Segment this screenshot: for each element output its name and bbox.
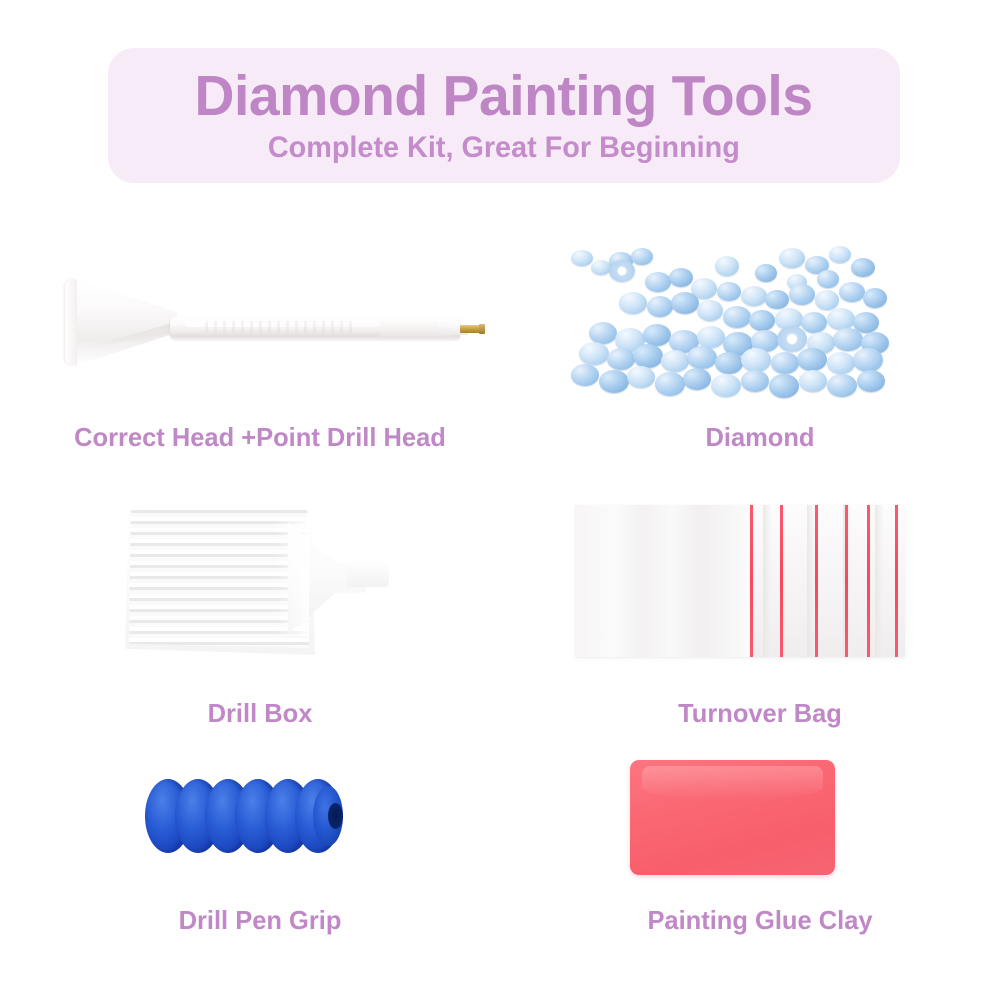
diamond-bead [687,346,717,369]
diamond-bead [741,286,767,306]
diamond-bead [769,374,799,398]
diamond-bead [631,248,653,265]
diamond-bead [817,270,839,288]
diamond-bead [853,348,883,372]
diamond-bead [683,368,711,390]
painting-glue-clay-image [630,760,835,875]
bag-sheet-stack [575,505,750,657]
diamond-bead [607,348,635,370]
pen-shaft-texture [205,321,355,333]
pen-tip-end [479,324,485,334]
diamond-bead [571,250,593,266]
diamond-bead [833,328,863,351]
tray-spout [347,561,389,587]
diamond-bead [697,300,723,321]
diamond-bead [671,292,699,314]
page-subtitle: Complete Kit, Great For Beginning [268,132,740,164]
diamond-bead [711,374,741,397]
diamond-bead [741,370,769,392]
bag-seal-stripe [780,505,783,657]
diamond-bead [779,248,805,268]
product-cell-correct-head-point-drill-head: Correct Head +Point Drill Head [0,230,520,460]
diamond-bead [863,288,887,308]
diamond-bead [599,370,629,393]
diamond-bead [851,258,875,277]
drill-pen-grip-image [145,773,360,863]
diamond-bead [765,290,789,309]
diamond-bead-top-view [777,326,807,352]
diamond-bead [643,324,671,346]
diamond-bead [857,370,885,392]
bag-seal-stripe [867,505,870,657]
diamond-bead [619,292,647,314]
bag-seal-stripe [895,505,898,657]
turnover-bag-image [575,505,905,657]
bag-fold [875,505,884,657]
diamond-bead [829,246,851,263]
diamond-bead [789,284,815,305]
pen-correct-head-cone [77,280,177,365]
bag-fold [763,505,772,657]
drill-pen-image [55,275,485,385]
diamond-bead [661,350,689,372]
drill-box-image [125,488,405,668]
diamond-bead [669,268,693,287]
diamond-bead [627,366,655,388]
diamond-bead-top-view [609,260,635,282]
diamond-bead [771,352,799,374]
diamond-bead [827,352,855,374]
diamond-bead [827,374,857,397]
caption-drill-pen-grip: Drill Pen Grip [5,905,515,936]
diamond-bead [799,370,827,392]
diamond-bead [801,312,827,333]
product-cell-painting-glue-clay: Painting Glue Clay [520,745,1000,960]
grip-bore-hole [328,803,343,829]
diamond-bead [697,326,725,348]
diamond-bead [645,272,671,292]
page-title: Diamond Painting Tools [195,67,813,125]
product-cell-drill-box: Drill Box [0,470,520,735]
diamond-bead [741,348,771,372]
diamond-bead [723,306,751,328]
caption-correct-head-point-drill-head: Correct Head +Point Drill Head [5,422,515,453]
caption-painting-glue-clay: Painting Glue Clay [525,905,995,936]
diamond-bead [715,352,743,374]
diamond-bead [647,296,673,317]
diamond-beads-image [565,238,895,403]
bag-seal-stripe [845,505,848,657]
diamond-bead [827,308,855,330]
tray-highlight [275,518,309,636]
diamond-bead [591,260,611,275]
diamond-bead [815,290,839,310]
diamond-bead [571,364,599,386]
header-banner: Diamond Painting Tools Complete Kit, Gre… [108,48,900,183]
product-cell-diamond: Diamond [520,230,1000,460]
diamond-bead [655,372,685,396]
diamond-bead [633,344,663,368]
diamond-bead [749,310,775,331]
diamond-bead [717,282,741,301]
caption-diamond: Diamond [525,422,995,453]
product-infographic: Diamond Painting Tools Complete Kit, Gre… [0,0,1000,1000]
diamond-bead [589,322,617,344]
bag-seal-stripe [750,505,753,657]
diamond-bead [797,348,827,371]
bag-seal-stripe [815,505,818,657]
product-cell-turnover-bag: Turnover Bag [520,470,1000,735]
caption-drill-box: Drill Box [5,698,515,729]
diamond-bead [715,256,739,276]
caption-turnover-bag: Turnover Bag [525,698,995,729]
diamond-bead [839,282,865,302]
diamond-bead [755,264,777,282]
diamond-bead [579,342,609,365]
clay-highlight [642,766,822,801]
product-cell-drill-pen-grip: Drill Pen Grip [0,745,520,960]
